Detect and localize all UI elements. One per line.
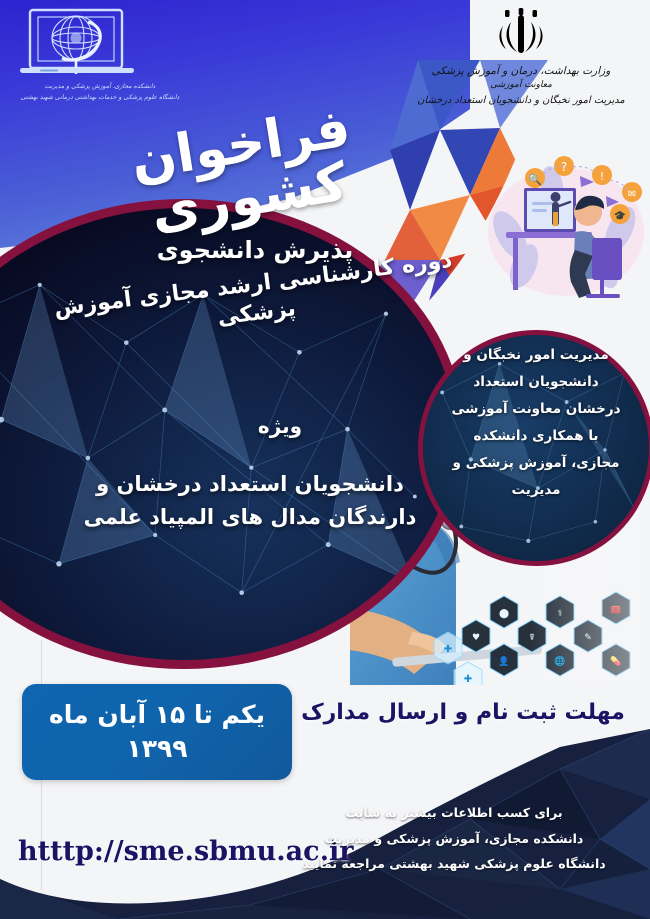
ministry-line-1: وزارت بهداشت، درمان و آموزش پزشکی [406, 63, 636, 79]
deadline-date-badge: یکم تا ۱۵ آبان ماه ۱۳۹۹ [22, 684, 292, 780]
main-circle-heading: پذیرش دانشجوی دوره کارشناسی ارشد مجازی آ… [50, 235, 460, 328]
faculty-logo: دانشکده مجازی، آموزش پزشکی و مدیریت دانش… [14, 6, 140, 116]
svg-text:✚: ✚ [464, 674, 472, 685]
svg-text:?: ? [561, 160, 567, 174]
footer-info-line-3: دانشگاه علوم پزشکی شهید بهشتی مراجعه نما… [274, 851, 634, 877]
ministry-line-2: معاونت آموزشی [406, 79, 636, 93]
deadline-date-line-2: ۱۳۹۹ [126, 734, 187, 764]
main-circle-audience: دانشجویان استعداد درخشان و دارندگان مدال… [40, 468, 460, 533]
svg-text:🎓: 🎓 [614, 210, 626, 222]
main-circle-line-4: دارندگان مدال های المپیاد علمی [40, 501, 460, 534]
svg-text:♥: ♥ [472, 633, 480, 643]
organizer-line-3: درخشان معاونت آموزشی [430, 396, 642, 423]
svg-text:👤: 👤 [498, 655, 509, 667]
organizer-line-1: مدیریت امور نخبگان و [430, 342, 642, 369]
poster-canvas: دانشکده مجازی، آموزش پزشکی و مدیریت دانش… [0, 0, 650, 919]
organizer-line-4: با همکاری دانشکده [430, 423, 642, 450]
iran-emblem-icon [493, 6, 549, 60]
laptop-globe-icon [14, 6, 140, 80]
svg-text:🔍: 🔍 [528, 172, 542, 186]
footer-info-line-1: برای کسب اطلاعات بیشتر به سایت [274, 800, 634, 826]
faculty-caption-line-2: دانشگاه علوم پزشکی و خدمات بهداشتی درمان… [20, 93, 180, 104]
organizer-text: مدیریت امور نخبگان و دانشجویان استعداد د… [430, 342, 642, 504]
organizer-line-2: دانشجویان استعداد [430, 369, 642, 396]
main-circle-line-3: دانشجویان استعداد درخشان و [40, 468, 460, 501]
organizer-line-6: مدیریت [430, 477, 642, 504]
deadline-date-line-1: یکم تا ۱۵ آبان ماه [49, 700, 265, 730]
footer-info-line-2: دانشکده مجازی، آموزش پزشکی و مدیریت [274, 826, 634, 852]
organizer-line-5: مجازی، آموزش پزشکی و [430, 450, 642, 477]
person-at-computer-illustration: 🔍 ? ! ✉ 🎓 [480, 140, 648, 310]
faculty-caption-line-1: دانشکده مجازی، آموزش پزشکی و مدیریت [20, 82, 180, 93]
svg-text:⬤: ⬤ [499, 609, 509, 619]
faculty-logo-caption: دانشکده مجازی، آموزش پزشکی و مدیریت دانش… [20, 82, 180, 104]
footer-info: برای کسب اطلاعات بیشتر به سایت دانشکده م… [274, 800, 634, 877]
svg-text:✉: ✉ [628, 189, 636, 200]
svg-text:!: ! [600, 170, 604, 183]
deadline-heading: مهلت ثبت نام و ارسال مدارک [298, 700, 628, 725]
ministry-block: وزارت بهداشت، درمان و آموزش پزشکی معاونت… [406, 6, 636, 108]
ministry-line-3: مدیریت امور نخبگان و دانشجویان استعداد د… [406, 93, 636, 108]
